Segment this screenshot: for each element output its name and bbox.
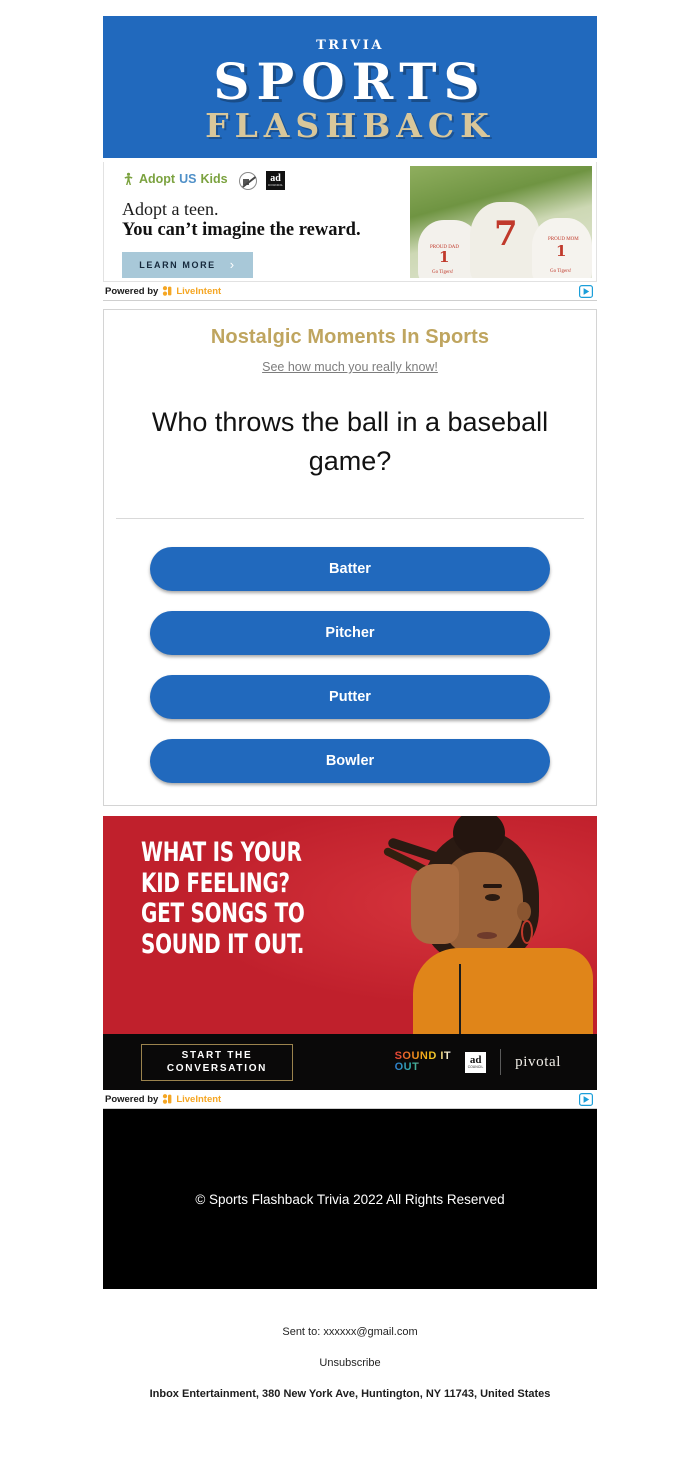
photo-eyebrow (483, 884, 502, 888)
answer-option-batter[interactable]: Batter (150, 547, 550, 591)
powered-by-label: Powered by (105, 286, 158, 297)
legal-footer: Sent to: xxxxxx@gmail.com Unsubscribe In… (103, 1289, 597, 1400)
top-ad-subheadline: You can’t imagine the reward. (122, 220, 410, 241)
top-ad-icon-group: ad COUNCIL (239, 171, 285, 190)
photo-earring (521, 920, 533, 944)
bottom-ad-line2: KID FEELING? (141, 869, 305, 900)
bottom-ad-line4: SOUND IT OUT. (141, 930, 305, 961)
sound-it-out-logo: SOUND IT OUT (395, 1051, 452, 1073)
email-container: TRIVIA SPORTS FLASHBACK AdoptUSKids Adop… (103, 16, 597, 1400)
answer-option-putter[interactable]: Putter (150, 675, 550, 719)
answer-option-bowler[interactable]: Bowler (150, 739, 550, 783)
learn-more-label: LEARN MORE (139, 260, 216, 270)
ad-council-badge-icon[interactable]: ad COUNCIL (266, 171, 285, 190)
pivotal-logo: pivotal (515, 1054, 561, 1071)
bottom-ad-copy: WHAT IS YOUR KID FEELING? GET SONGS TO S… (141, 838, 305, 960)
adchoices-icon[interactable] (579, 285, 593, 298)
sent-to-text: Sent to: xxxxxx@gmail.com (103, 1326, 597, 1338)
ad-badge-bottom-bottom: COUNCIL (468, 1066, 484, 1069)
copyright-text: © Sports Flashback Trivia 2022 All Right… (195, 1192, 504, 1207)
bottom-ad-footer: START THE CONVERSATION SOUND IT OUT ad C… (103, 1034, 597, 1090)
start-conversation-line1: START THE (182, 1049, 253, 1063)
bottom-advertisement[interactable]: WHAT IS YOUR KID FEELING? GET SONGS TO S… (103, 816, 597, 1090)
ad-badge-bottom: COUNCIL (268, 184, 283, 187)
adoptuskids-logo-adopt: Adopt (139, 173, 175, 186)
bottom-ad-photo (335, 816, 597, 1034)
sender-address: Inbox Entertainment, 380 New York Ave, H… (103, 1388, 597, 1400)
photo-jersey-number-right: 1 (556, 242, 566, 260)
quiz-divider (116, 518, 584, 519)
start-conversation-line2: CONVERSATION (167, 1062, 267, 1076)
adchoices-icon-bottom[interactable] (579, 1093, 593, 1106)
top-advertisement[interactable]: AdoptUSKids Adopt a teen. You can’t imag… (103, 162, 597, 282)
copyright-footer: © Sports Flashback Trivia 2022 All Right… (103, 1109, 597, 1289)
liveintent-icon (162, 286, 172, 296)
adoptuskids-logo-us: US (179, 173, 196, 186)
masthead-kicker: TRIVIA (316, 39, 384, 52)
quiz-card: Nostalgic Moments In Sports See how much… (103, 309, 597, 806)
powered-by-label-bottom: Powered by (105, 1094, 158, 1105)
ad-council-badge-icon-bottom: ad COUNCIL (465, 1052, 486, 1073)
quiz-question: Who throws the ball in a baseball game? (130, 403, 570, 481)
top-ad-photo: PROUD DAD 1 7 PROUD MOM 1 Go Tigers! Go … (410, 166, 592, 278)
masthead-title-sports: SPORTS (213, 56, 486, 107)
bottom-ad-hero: WHAT IS YOUR KID FEELING? GET SONGS TO S… (103, 816, 597, 1034)
bottom-ad-line1: WHAT IS YOUR (141, 838, 305, 869)
learn-more-button[interactable]: LEARN MORE › (122, 252, 253, 278)
photo-jersey-number-center: 7 (494, 214, 518, 254)
liveintent-brand: LiveIntent (176, 286, 221, 297)
chevron-right-icon: › (230, 257, 236, 272)
answer-option-pitcher[interactable]: Pitcher (150, 611, 550, 655)
quiz-answer-list: Batter Pitcher Putter Bowler (104, 547, 596, 783)
photo-jersey-number-left: 1 (439, 248, 449, 266)
logo-divider (500, 1049, 501, 1075)
person-star-icon (122, 172, 135, 186)
masthead-banner: TRIVIA SPORTS FLASHBACK (103, 16, 597, 158)
adoptuskids-logo-kids: Kids (200, 173, 227, 186)
top-ad-content: AdoptUSKids Adopt a teen. You can’t imag… (104, 162, 410, 281)
photo-caption-left: Go Tigers! (432, 270, 454, 275)
start-conversation-button[interactable]: START THE CONVERSATION (141, 1044, 293, 1081)
sound-it-out-line2: OUT (395, 1062, 452, 1073)
quiz-title: Nostalgic Moments In Sports (104, 326, 596, 349)
liveintent-attribution: Powered by LiveIntent (105, 286, 221, 297)
unsubscribe-link[interactable]: Unsubscribe (103, 1357, 597, 1369)
liveintent-attribution-bottom: Powered by LiveIntent (105, 1094, 221, 1105)
photo-sweater (413, 948, 593, 1034)
quiz-subtitle-link[interactable]: See how much you really know! (104, 360, 596, 374)
mute-audio-icon[interactable] (239, 172, 257, 190)
photo-caption-right: Go Tigers! (550, 269, 572, 274)
masthead-title-flashback: FLASHBACK (205, 109, 495, 144)
liveintent-brand-bottom: LiveIntent (176, 1094, 221, 1105)
photo-hand (411, 864, 459, 944)
email-page: TRIVIA SPORTS FLASHBACK AdoptUSKids Adop… (0, 0, 700, 1459)
bottom-ad-logo-group: SOUND IT OUT ad COUNCIL pivotal (395, 1049, 561, 1075)
liveintent-icon-bottom (162, 1094, 172, 1104)
liveintent-bar-bottom: Powered by LiveIntent (103, 1090, 597, 1109)
photo-earphone-cord (459, 964, 461, 1034)
top-ad-headline: Adopt a teen. (122, 199, 410, 220)
bottom-ad-line3: GET SONGS TO (141, 899, 305, 930)
liveintent-bar-top: Powered by LiveIntent (103, 282, 597, 301)
